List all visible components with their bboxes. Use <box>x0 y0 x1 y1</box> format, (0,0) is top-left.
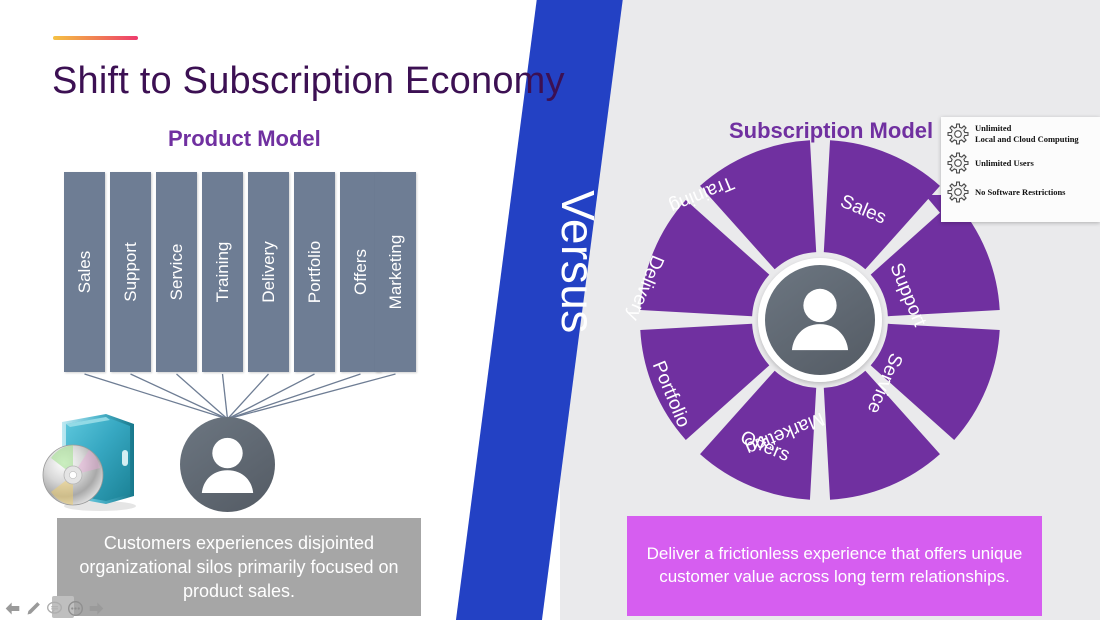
customer-person-icon-right <box>758 258 882 382</box>
feature-row: UnlimitedLocal and Cloud Computing <box>947 123 1096 145</box>
software-box-cd-icon <box>42 410 147 512</box>
silo-bar-label: Offers <box>351 249 371 295</box>
silo-bar-service: Service <box>156 172 197 372</box>
fan-line <box>228 374 269 419</box>
silo-bar-label: Training <box>213 242 233 303</box>
feature-label: UnlimitedLocal and Cloud Computing <box>975 123 1079 144</box>
gear-icon <box>947 181 969 203</box>
slide-canvas: Versus Shift to Subscription Economy Pro… <box>0 0 1100 620</box>
silo-bar-label: Sales <box>75 251 95 294</box>
feature-label: No Software Restrictions <box>975 187 1066 198</box>
silo-bar-portfolio: Portfolio <box>294 172 335 372</box>
comment-icon[interactable] <box>46 600 63 617</box>
person-glyph <box>768 268 872 372</box>
more-ellipsis-icon[interactable] <box>67 600 84 617</box>
silo-bar-delivery: Delivery <box>248 172 289 372</box>
fan-line <box>228 374 315 419</box>
gear-icon <box>947 123 969 145</box>
silo-bar-label: Portfolio <box>305 241 325 303</box>
fan-line <box>228 374 396 419</box>
customer-person-icon-left <box>180 417 275 512</box>
fan-line <box>177 374 228 419</box>
pen-icon[interactable] <box>25 600 42 617</box>
product-model-caption: Customers experiences disjointed organiz… <box>57 518 421 616</box>
back-arrow-icon[interactable] <box>4 600 21 617</box>
page-title: Shift to Subscription Economy <box>52 60 565 103</box>
bottom-nav-bar[interactable] <box>4 598 105 618</box>
person-glyph <box>180 417 275 512</box>
silo-bar-label: Support <box>121 242 141 302</box>
gear-icon <box>947 152 969 174</box>
feature-row: No Software Restrictions <box>947 181 1096 203</box>
silo-bar-training: Training <box>202 172 243 372</box>
product-model-title: Product Model <box>168 126 321 152</box>
versus-label: Versus <box>548 182 608 342</box>
accent-rule <box>53 36 138 40</box>
feature-label: Unlimited Users <box>975 158 1034 169</box>
silo-bar-label: Marketing <box>386 235 406 310</box>
subscription-model-caption: Deliver a frictionless experience that o… <box>627 516 1042 616</box>
silo-bar-label: Delivery <box>259 241 279 302</box>
feature-row: Unlimited Users <box>947 152 1096 174</box>
fan-line <box>228 374 361 419</box>
silo-bar-marketing: Marketing <box>375 172 416 372</box>
silo-bar-support: Support <box>110 172 151 372</box>
silo-bar-sales: Sales <box>64 172 105 372</box>
fan-line <box>223 374 228 419</box>
silo-bar-label: Service <box>167 244 187 301</box>
features-callout: UnlimitedLocal and Cloud ComputingUnlimi… <box>941 117 1100 222</box>
forward-arrow-icon[interactable] <box>88 600 105 617</box>
